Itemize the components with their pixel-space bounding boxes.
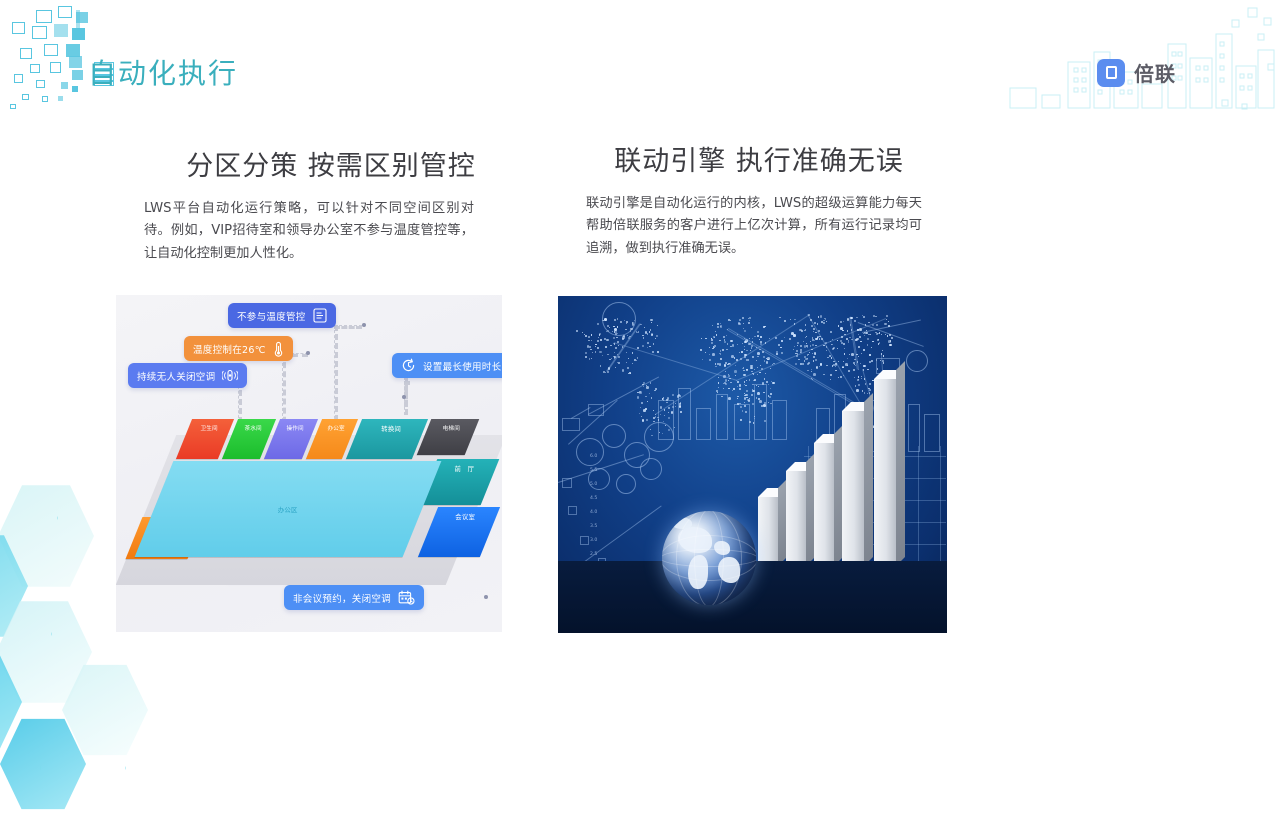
connector-line bbox=[334, 325, 362, 329]
brand-name: 倍联 bbox=[1134, 58, 1176, 87]
callout-max-usage-duration[interactable]: 设置最长使用时长 bbox=[392, 353, 502, 378]
callout-label: 温度控制在26℃ bbox=[193, 342, 266, 356]
motion-sensor-icon bbox=[222, 368, 238, 383]
room-label: 办公区 bbox=[278, 505, 298, 514]
callout-label: 不参与温度管控 bbox=[237, 309, 306, 323]
bar-column bbox=[786, 471, 806, 575]
room-label: 转换间 bbox=[381, 424, 401, 433]
bar-column bbox=[874, 379, 896, 575]
connector-line bbox=[404, 377, 408, 407]
room-block-open-office[interactable]: 办公区 bbox=[135, 461, 442, 557]
3d-globe-icon bbox=[662, 511, 756, 605]
rounded-square-logo-icon bbox=[1097, 59, 1125, 87]
zoning-diagram-figure: 不参与温度管控 温度控制在26℃ 持续无人关闭空调 bbox=[116, 295, 502, 632]
section-body: 联动引擎是自动化运行的内核，LWS的超级运算能力每天帮助倍联服务的客户进行上亿次… bbox=[586, 193, 922, 261]
section-body: LWS平台自动化运行策略，可以针对不同空间区别对待。例如，VIP招待室和领导办公… bbox=[144, 198, 474, 266]
connector-dot bbox=[306, 351, 310, 355]
connector-dot bbox=[402, 395, 406, 399]
section-title: 分区分策 按需区别管控 bbox=[116, 150, 536, 184]
page-title: 自动化执行 bbox=[88, 52, 238, 92]
bar-column bbox=[842, 411, 864, 575]
room-label: 前 厅 bbox=[455, 464, 475, 473]
section-title: 联动引擎 执行准确无误 bbox=[558, 145, 978, 179]
page-header: 自动化执行 倍联 bbox=[0, 0, 1280, 120]
section-zoning: 分区分策 按需区别管控 LWS平台自动化运行策略，可以针对不同空间区别对待。例如… bbox=[116, 150, 536, 266]
brand-logo: 倍联 bbox=[1097, 58, 1176, 87]
callout-label: 设置最长使用时长 bbox=[423, 359, 501, 373]
room-label: 操作间 bbox=[287, 424, 304, 432]
timer-clock-icon bbox=[401, 358, 416, 373]
isometric-floorplan: 卫生间 茶水间 操作间 办公室 转换间 电梯间 前 厅 会议室 会议室 办公 bbox=[136, 413, 492, 598]
room-label: 办公室 bbox=[328, 424, 345, 432]
room-label: 电梯间 bbox=[443, 424, 460, 432]
bar-column bbox=[814, 443, 834, 575]
connector-dot bbox=[362, 323, 366, 327]
data-engine-figure: 6.0 5.5 5.0 4.5 4.0 3.5 3.0 2.5 2.0 1.5 … bbox=[558, 296, 947, 633]
room-label: 卫生间 bbox=[201, 424, 218, 432]
thermometer-icon bbox=[273, 341, 284, 357]
callout-temperature-26[interactable]: 温度控制在26℃ bbox=[184, 336, 293, 361]
callout-close-ac-when-vacant[interactable]: 持续无人关闭空调 bbox=[128, 363, 247, 388]
room-label: 会议室 bbox=[455, 512, 475, 521]
room-label: 茶水间 bbox=[245, 424, 262, 432]
callout-label: 持续无人关闭空调 bbox=[137, 369, 215, 383]
section-engine: 联动引擎 执行准确无误 联动引擎是自动化运行的内核，LWS的超级运算能力每天帮助… bbox=[558, 145, 978, 261]
callout-no-temperature-control[interactable]: 不参与温度管控 bbox=[228, 303, 336, 328]
document-list-icon bbox=[313, 308, 327, 323]
